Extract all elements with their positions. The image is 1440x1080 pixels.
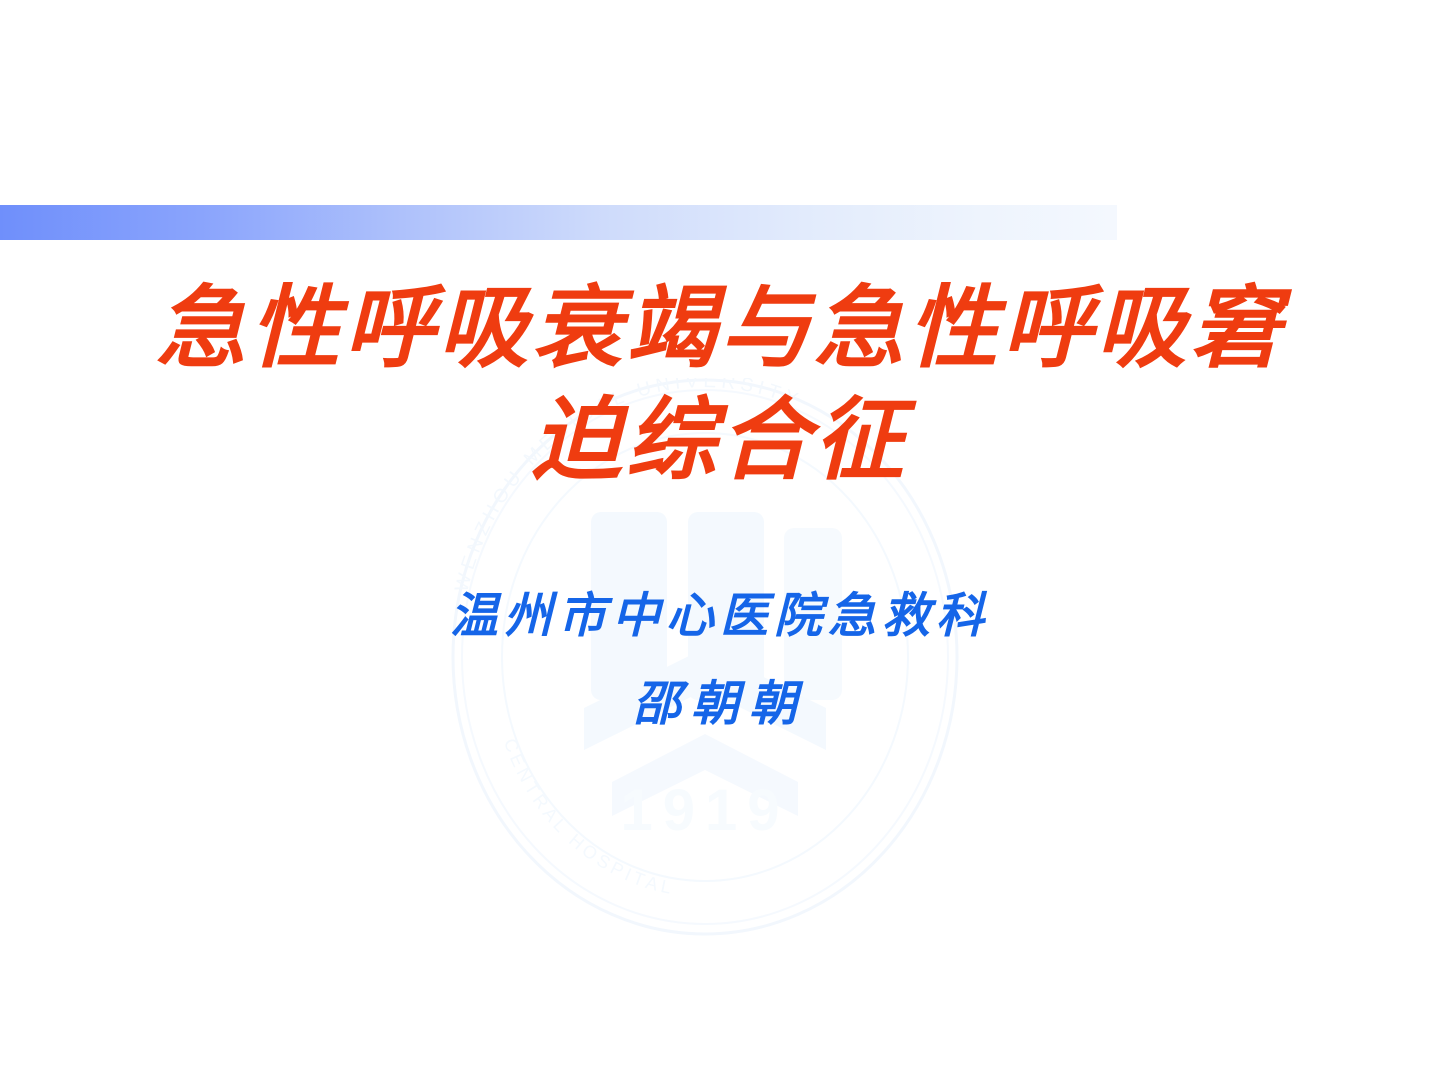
title-slide: WENZHOU MEDICAL UNIVERSITY CENTRAL HOSPI… [0,0,1440,1080]
slide-content: 急性呼吸衰竭与急性呼吸窘 迫综合征 温州市中心医院急救科 邵朝朝 [0,0,1440,1080]
page-title: 急性呼吸衰竭与急性呼吸窘 迫综合征 [0,272,1440,496]
presenter-block: 温州市中心医院急救科 邵朝朝 [0,572,1440,748]
affiliation-text: 温州市中心医院急救科 [0,572,1440,660]
presenter-name-text: 邵朝朝 [0,660,1440,748]
title-line-1: 急性呼吸衰竭与急性呼吸窘 [0,272,1440,384]
title-line-2: 迫综合征 [0,384,1440,496]
